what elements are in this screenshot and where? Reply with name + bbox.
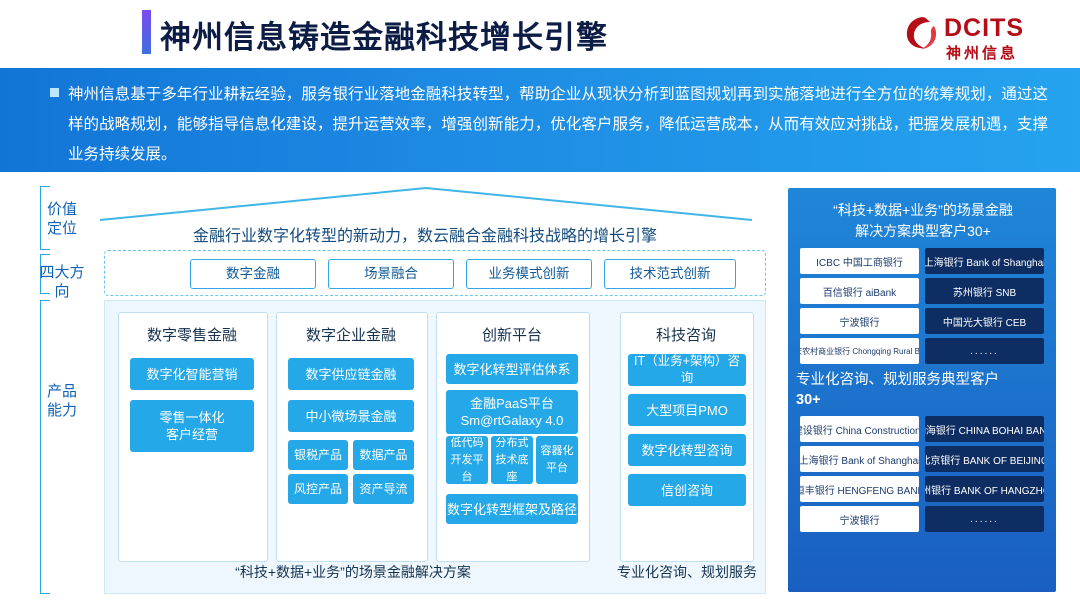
- main-diagram: 价值 定位 四大方向 产品 能力 金融行业数字化转型的新动力，数云融合金融科技战…: [0, 172, 1080, 608]
- customer2-logo-5: 恒丰银行 HENGFENG BANK: [800, 476, 919, 502]
- company-logo: DCITS 神州信息: [904, 14, 1044, 60]
- card-enterprise-finance: [276, 312, 428, 562]
- consulting-item-4[interactable]: 信创咨询: [628, 474, 746, 506]
- enterprise-item-6[interactable]: 资产导流: [353, 474, 414, 504]
- customer-logo-2: 上海银行 Bank of Shanghai: [925, 248, 1044, 274]
- axis-label-value-line1: 价值: [44, 200, 80, 219]
- customer2-logo-1: 中国建设银行 China Construction Bank: [800, 416, 919, 442]
- retail-item-2-line2: 客户经营: [166, 426, 218, 443]
- retail-item-2[interactable]: 零售一体化 客户经营: [130, 400, 254, 452]
- caption-solution: “科技+数据+业务”的场景金融解决方案: [118, 562, 588, 582]
- title-accent-bar: [142, 10, 151, 54]
- innovation-item-container[interactable]: 容器化平台: [536, 436, 578, 484]
- axis-label-directions: 四大方向: [34, 263, 90, 301]
- customer2-logo-4: 北京银行 BANK OF BEIJING: [925, 446, 1044, 472]
- customers-title-line2: 解决方案典型客户30+: [800, 221, 1046, 242]
- customers-title-line1: “科技+数据+业务”的场景金融: [800, 200, 1046, 221]
- intro-paragraph: 神州信息基于多年行业耕耘经验，服务银行业落地金融科技转型，帮助企业从现状分析到蓝…: [68, 80, 1048, 170]
- enterprise-item-1[interactable]: 数字供应链金融: [288, 358, 414, 390]
- customer2-logo-2: 渤海银行 CHINA BOHAI BANK: [925, 416, 1044, 442]
- consulting-item-2[interactable]: 大型项目PMO: [628, 394, 746, 426]
- innovation-item-lowcode[interactable]: 低代码开发平台: [446, 436, 488, 484]
- axis-label-capability-line1: 产品: [44, 382, 80, 401]
- enterprise-item-4[interactable]: 数据产品: [353, 440, 414, 470]
- page-title: 神州信息铸造金融科技增长引擎: [160, 12, 608, 57]
- directions-row: 数字金融 场景融合 业务模式创新 技术范式创新: [190, 259, 750, 287]
- customers-mid-caption-line2: 30+: [796, 390, 1048, 410]
- axis-label-value-line2: 定位: [44, 219, 80, 238]
- customer-logo-8: ......: [925, 338, 1044, 364]
- enterprise-item-3[interactable]: 银税产品: [288, 440, 348, 470]
- consulting-item-3[interactable]: 数字化转型咨询: [628, 434, 746, 466]
- card-title-retail: 数字零售金融: [118, 324, 266, 345]
- enterprise-item-5[interactable]: 风控产品: [288, 474, 348, 504]
- consulting-item-1[interactable]: IT（业务+架构）咨询: [628, 354, 746, 386]
- axis-bracket-capability: [40, 300, 50, 594]
- direction-chip-1[interactable]: 数字金融: [190, 259, 316, 289]
- direction-chip-4[interactable]: 技术范式创新: [604, 259, 736, 289]
- customer-logo-6: 中国光大银行 CEB: [925, 308, 1044, 334]
- axis-label-capability-line2: 能力: [44, 401, 80, 420]
- retail-item-2-line1: 零售一体化: [159, 409, 224, 426]
- caption-consulting: 专业化咨询、规划服务: [612, 562, 762, 582]
- customer2-logo-7: 宁波银行: [800, 506, 919, 532]
- innovation-paas-line2: Sm@rtGalaxy 4.0: [461, 412, 564, 429]
- innovation-paas-platform[interactable]: 金融PaaS平台 Sm@rtGalaxy 4.0: [446, 390, 578, 434]
- customer-logo-1: ICBC 中国工商银行: [800, 248, 919, 274]
- customer2-logo-3: 上海银行 Bank of Shanghai: [800, 446, 919, 472]
- funnel-roof-shape: [96, 184, 756, 222]
- intro-bullet-icon: [50, 88, 59, 97]
- enterprise-item-2[interactable]: 中小微场景金融: [288, 400, 414, 432]
- customer-logo-3: 百信银行 aiBank: [800, 278, 919, 304]
- dcits-mark-icon: [904, 16, 940, 50]
- customer2-logo-6: 杭州银行 BANK OF HANGZHOU: [925, 476, 1044, 502]
- customers-mid-caption-line1: 专业化咨询、规划服务典型客户: [796, 370, 1048, 390]
- customer2-logo-8: ......: [925, 506, 1044, 532]
- logo-text-cn: 神州信息: [946, 42, 1018, 63]
- retail-item-1[interactable]: 数字化智能营销: [130, 358, 254, 390]
- innovation-item-framework[interactable]: 数字化转型框架及路径: [446, 494, 578, 524]
- customer-logo-7: 重庆农村商业银行 Chongqing Rural Bank: [800, 338, 919, 364]
- card-title-consulting: 科技咨询: [620, 324, 752, 345]
- innovation-item-1[interactable]: 数字化转型评估体系: [446, 354, 578, 384]
- customer-logo-4: 苏州银行 SNB: [925, 278, 1044, 304]
- innovation-item-distributed[interactable]: 分布式技术底座: [491, 436, 533, 484]
- direction-chip-2[interactable]: 场景融合: [328, 259, 454, 289]
- customer-logo-5: 宁波银行: [800, 308, 919, 334]
- logo-text-en: DCITS: [944, 14, 1024, 43]
- innovation-paas-line1: 金融PaaS平台: [470, 395, 554, 412]
- headline-text: 金融行业数字化转型的新动力，数云融合金融科技战略的增长引擎: [100, 222, 750, 246]
- direction-chip-3[interactable]: 业务模式创新: [466, 259, 592, 289]
- page-header: 神州信息铸造金融科技增长引擎 DCITS 神州信息: [0, 0, 1080, 68]
- customers-title: “科技+数据+业务”的场景金融 解决方案典型客户30+: [800, 200, 1046, 242]
- card-title-innovation: 创新平台: [436, 324, 588, 345]
- card-title-enterprise: 数字企业金融: [276, 324, 426, 345]
